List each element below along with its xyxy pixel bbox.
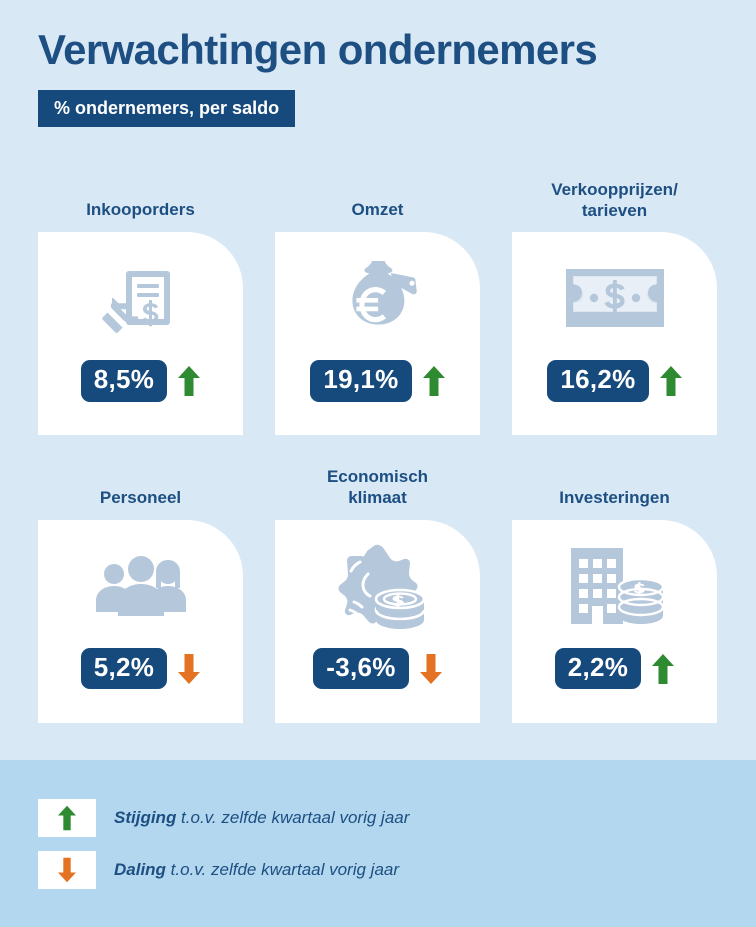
cards-row-2: Personeel — [38, 467, 718, 722]
page-title: Verwachtingen ondernemers — [0, 0, 756, 72]
value-row: 16,2% — [547, 360, 681, 401]
value-badge: 19,1% — [310, 360, 411, 401]
value-badge: 16,2% — [547, 360, 648, 401]
value-row: 2,2% — [555, 648, 674, 689]
card-body: -3,6% — [275, 520, 480, 723]
value-row: -3,6% — [313, 648, 441, 689]
arrow-up-icon — [652, 654, 674, 684]
card-inkooporders: Inkooporders — [38, 200, 243, 435]
card-body: 16,2% — [512, 232, 717, 435]
legend-label-bold: Stijging — [114, 808, 176, 827]
card-body: 19,1% — [275, 232, 480, 435]
money-bag-euro-icon — [334, 244, 422, 352]
infographic-page: Verwachtingen ondernemers % ondernemers,… — [0, 0, 756, 927]
card-verkoopprijzen: Verkoopprijzen/ tarieven — [512, 180, 717, 435]
value-row: 19,1% — [310, 360, 444, 401]
card-title: Economisch klimaat — [275, 467, 480, 508]
hand-holding-invoice-icon — [98, 244, 184, 352]
card-title: Investeringen — [512, 488, 717, 509]
card-body: 8,5% — [38, 232, 243, 435]
card-personeel: Personeel — [38, 488, 243, 723]
card-investeringen: Investeringen — [512, 488, 717, 723]
arrow-down-icon — [178, 654, 200, 684]
card-title-line-1: Economisch — [327, 467, 428, 486]
arrow-up-icon — [178, 366, 200, 396]
card-title: Verkoopprijzen/ tarieven — [512, 180, 717, 221]
legend-swatch-up — [38, 799, 96, 837]
card-title-line-2: klimaat — [348, 488, 407, 507]
arrow-up-icon — [423, 366, 445, 396]
legend-swatch-down — [38, 851, 96, 889]
card-body: 5,2% — [38, 520, 243, 723]
legend: Stijging t.o.v. zelfde kwartaal vorig ja… — [0, 760, 756, 927]
card-title: Omzet — [275, 200, 480, 221]
card-title-line-1: Verkoopprijzen/ — [551, 180, 678, 199]
legend-item-stijging: Stijging t.o.v. zelfde kwartaal vorig ja… — [0, 760, 756, 837]
legend-label-rest: t.o.v. zelfde kwartaal vorig jaar — [166, 860, 399, 879]
header: Verwachtingen ondernemers % ondernemers,… — [0, 0, 756, 127]
netherlands-map-coins-icon — [328, 532, 428, 640]
arrow-down-icon — [58, 857, 76, 883]
value-row: 5,2% — [81, 648, 200, 689]
legend-label-stijging: Stijging t.o.v. zelfde kwartaal vorig ja… — [114, 808, 409, 828]
cards-row-1: Inkooporders — [38, 180, 718, 435]
banknote-icon — [566, 244, 664, 352]
card-economisch-klimaat: Economisch klimaat — [275, 467, 480, 722]
legend-label-rest: t.o.v. zelfde kwartaal vorig jaar — [176, 808, 409, 827]
card-omzet: Omzet 19,1% — [275, 200, 480, 435]
office-building-coins-icon — [563, 532, 667, 640]
value-badge: 2,2% — [555, 648, 641, 689]
value-row: 8,5% — [81, 360, 200, 401]
card-title: Inkooporders — [38, 200, 243, 221]
legend-label-daling: Daling t.o.v. zelfde kwartaal vorig jaar — [114, 860, 399, 880]
legend-item-daling: Daling t.o.v. zelfde kwartaal vorig jaar — [0, 837, 756, 889]
value-badge: 5,2% — [81, 648, 167, 689]
arrow-up-icon — [58, 805, 76, 831]
people-group-icon — [89, 532, 193, 640]
card-title-line-2: tarieven — [582, 201, 647, 220]
subtitle-badge: % ondernemers, per saldo — [38, 90, 295, 127]
legend-label-bold: Daling — [114, 860, 166, 879]
card-body: 2,2% — [512, 520, 717, 723]
value-badge: -3,6% — [313, 648, 408, 689]
value-badge: 8,5% — [81, 360, 167, 401]
cards-grid: Inkooporders — [38, 180, 718, 723]
card-title: Personeel — [38, 488, 243, 509]
arrow-up-icon — [660, 366, 682, 396]
arrow-down-icon — [420, 654, 442, 684]
